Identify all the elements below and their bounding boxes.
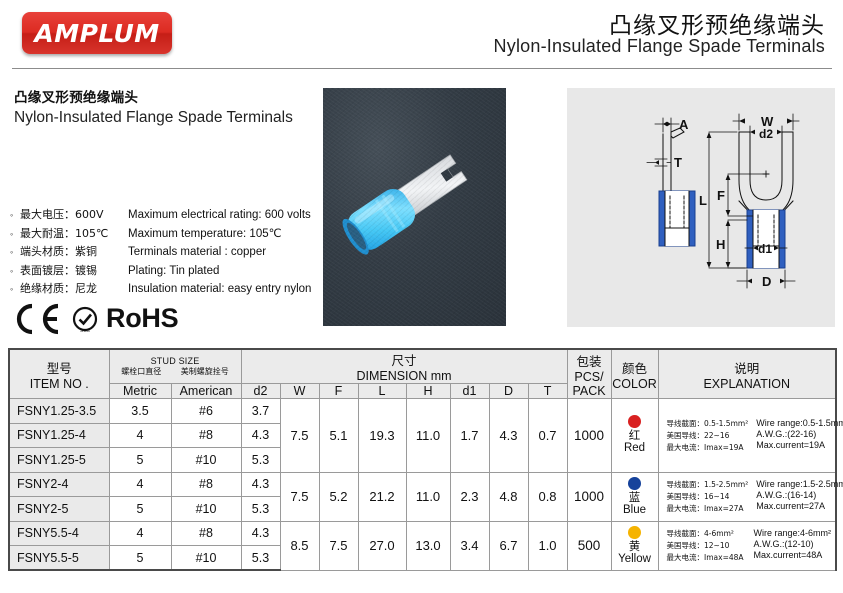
cell-american: #8 — [171, 423, 241, 448]
page-title-cn: 凸缘叉形预绝缘端头 — [609, 6, 825, 40]
cell-f: 7.5 — [319, 521, 358, 570]
sgs-mark-icon: SGS — [70, 305, 100, 335]
spec-item: ◦ 表面镀层：镀锡 Plating: Tin plated — [10, 262, 320, 281]
spec-item-cn: 表面镀层：镀锡 — [20, 262, 128, 278]
table-row[interactable]: FSNY2-4 4 #8 4.3 7.5 5.2 21.2 11.0 2.3 4… — [9, 472, 836, 497]
svg-text:SGS: SGS — [80, 328, 90, 333]
cell-d2: 5.3 — [241, 497, 280, 522]
cell-d2: 5.3 — [241, 448, 280, 473]
cell-explanation: 导线截面：4-6mm² 美国导线：12~10 最大电流：Imax=48A Wir… — [658, 521, 836, 570]
cell-d: 4.3 — [489, 399, 528, 473]
cell-pack: 500 — [567, 521, 611, 570]
cell-f: 5.2 — [319, 472, 358, 521]
cell-w: 8.5 — [280, 521, 319, 570]
spec-item: ◦ 最大电压：600V Maximum electrical rating: 6… — [10, 206, 320, 225]
cell-w: 7.5 — [280, 399, 319, 473]
label-h: H — [716, 237, 725, 252]
page-header: AMPLUM 凸缘叉形预绝缘端头 Nylon-Insulated Flange … — [0, 0, 843, 70]
bullet-icon: ◦ — [10, 262, 20, 280]
cell-metric: 4 — [109, 472, 171, 497]
spec-item-cn: 端头材质：紫铜 — [20, 243, 128, 259]
cell-metric: 4 — [109, 521, 171, 546]
cell-american: #10 — [171, 448, 241, 473]
spec-item-cn: 绝缘材质：尼龙 — [20, 280, 128, 296]
table-row[interactable]: FSNY1.25-3.5 3.5 #6 3.7 7.5 5.1 19.3 11.… — [9, 399, 836, 424]
bullet-icon: ◦ — [10, 206, 20, 224]
cell-explanation: 导线截面：1.5-2.5mm² 美国导线：16~14 最大电流：Imax=27A… — [658, 472, 836, 521]
spec-item: ◦ 最大耐温：105℃ Maximum temperature: 105℃ — [10, 225, 320, 244]
cell-d: 4.8 — [489, 472, 528, 521]
label-f: F — [717, 188, 725, 203]
spec-item: ◦ 绝缘材质：尼龙 Insulation material: easy entr… — [10, 280, 320, 299]
page-title-en: Nylon-Insulated Flange Spade Terminals — [494, 36, 825, 57]
label-t: T — [674, 155, 682, 170]
cell-t: 0.7 — [528, 399, 567, 473]
col-header-pack: 包装 PCS/ PACK — [567, 349, 611, 399]
cell-american: #10 — [171, 497, 241, 522]
bullet-icon: ◦ — [10, 280, 20, 298]
brand-logo: AMPLUM — [22, 12, 172, 54]
spec-list: ◦ 最大电压：600V Maximum electrical rating: 6… — [10, 206, 320, 299]
spec-item-cn: 最大电压：600V — [20, 206, 128, 222]
cell-h: 11.0 — [406, 472, 450, 521]
cell-item-no: FSNY2-4 — [9, 472, 109, 497]
dimension-diagram: A T W d2 L F H d1 D — [567, 88, 835, 327]
cell-l: 21.2 — [358, 472, 406, 521]
col-header-t: T — [528, 384, 567, 399]
cell-h: 13.0 — [406, 521, 450, 570]
label-d1: d1 — [758, 242, 772, 256]
cell-d2: 4.3 — [241, 423, 280, 448]
col-header-color: 颜色 COLOR — [611, 349, 658, 399]
spec-heading-block: 凸缘叉形预绝缘端头 Nylon-Insulated Flange Spade T… — [14, 86, 314, 127]
photo-texture — [323, 88, 506, 326]
cell-metric: 5 — [109, 546, 171, 571]
label-d: D — [762, 274, 771, 289]
cell-metric: 5 — [109, 448, 171, 473]
col-header-stud-size: STUD SIZE 螺栓口直径 美制螺旋拴号 — [109, 349, 241, 384]
cell-color: 红 Red — [611, 399, 658, 473]
cell-d1: 1.7 — [450, 399, 489, 473]
cell-d2: 3.7 — [241, 399, 280, 424]
cell-d2: 4.3 — [241, 472, 280, 497]
product-photo — [323, 88, 506, 326]
brand-logo-text: AMPLUM — [34, 19, 159, 48]
col-header-w: W — [280, 384, 319, 399]
cell-d1: 3.4 — [450, 521, 489, 570]
col-header-l: L — [358, 384, 406, 399]
label-l: L — [699, 193, 707, 208]
spec-item-en: Maximum temperature: 105℃ — [128, 226, 282, 240]
cell-item-no: FSNY2-5 — [9, 497, 109, 522]
col-header-d2: d2 — [241, 384, 280, 399]
bullet-icon: ◦ — [10, 225, 20, 243]
cell-metric: 3.5 — [109, 399, 171, 424]
spec-item-en: Terminals material : copper — [128, 246, 266, 258]
cell-w: 7.5 — [280, 472, 319, 521]
cell-pack: 1000 — [567, 399, 611, 473]
cell-explanation: 导线截面：0.5-1.5mm² 美国导线：22~16 最大电流：Imax=19A… — [658, 399, 836, 473]
header-divider — [12, 68, 832, 69]
cell-pack: 1000 — [567, 472, 611, 521]
col-header-h: H — [406, 384, 450, 399]
spec-item-en: Insulation material: easy entry nylon — [128, 283, 311, 295]
cell-color: 黄 Yellow — [611, 521, 658, 570]
spec-heading-en: Nylon-Insulated Flange Spade Terminals — [14, 108, 314, 127]
technical-drawing: A T W d2 L F H d1 D — [567, 88, 835, 327]
cell-metric: 5 — [109, 497, 171, 522]
cell-american: #6 — [171, 399, 241, 424]
cell-l: 19.3 — [358, 399, 406, 473]
label-d2: d2 — [759, 127, 773, 141]
cell-american: #8 — [171, 472, 241, 497]
color-swatch-red — [628, 415, 641, 428]
rohs-mark-text: RoHS — [106, 303, 178, 334]
color-swatch-blue — [628, 477, 641, 490]
col-header-item-no: 型号 ITEM NO . — [9, 349, 109, 399]
cell-h: 11.0 — [406, 399, 450, 473]
col-header-explanation: 说明 EXPLANATION — [658, 349, 836, 399]
col-header-d1: d1 — [450, 384, 489, 399]
cell-l: 27.0 — [358, 521, 406, 570]
cell-item-no: FSNY1.25-3.5 — [9, 399, 109, 424]
cell-d2: 5.3 — [241, 546, 280, 571]
bullet-icon: ◦ — [10, 243, 20, 261]
spec-item-cn: 最大耐温：105℃ — [20, 225, 128, 241]
cell-item-no: FSNY1.25-5 — [9, 448, 109, 473]
spec-item-en: Maximum electrical rating: 600 volts — [128, 209, 311, 221]
table-row[interactable]: FSNY5.5-4 4 #8 4.3 8.5 7.5 27.0 13.0 3.4… — [9, 521, 836, 546]
cell-t: 0.8 — [528, 472, 567, 521]
spec-item: ◦ 端头材质：紫铜 Terminals material : copper — [10, 243, 320, 262]
cell-american: #10 — [171, 546, 241, 571]
ce-mark-icon — [12, 302, 64, 336]
cell-d2: 4.3 — [241, 521, 280, 546]
cell-color: 蓝 Blue — [611, 472, 658, 521]
col-header-d: D — [489, 384, 528, 399]
col-header-metric: Metric — [109, 384, 171, 399]
cell-d1: 2.3 — [450, 472, 489, 521]
col-header-dimension: 尺寸 DIMENSION mm — [241, 349, 567, 384]
label-a: A — [679, 117, 689, 132]
spec-heading-cn: 凸缘叉形预绝缘端头 — [14, 86, 314, 106]
specification-table: 型号 ITEM NO . STUD SIZE 螺栓口直径 美制螺旋拴号 尺寸 D… — [8, 348, 835, 571]
col-header-f: F — [319, 384, 358, 399]
color-swatch-yellow — [628, 526, 641, 539]
cell-american: #8 — [171, 521, 241, 546]
cell-t: 1.0 — [528, 521, 567, 570]
cell-item-no: FSNY5.5-5 — [9, 546, 109, 571]
cell-d: 6.7 — [489, 521, 528, 570]
spec-item-en: Plating: Tin plated — [128, 265, 219, 277]
certification-marks: SGS RoHS — [8, 300, 208, 342]
cell-f: 5.1 — [319, 399, 358, 473]
col-header-american: American — [171, 384, 241, 399]
cell-metric: 4 — [109, 423, 171, 448]
cell-item-no: FSNY1.25-4 — [9, 423, 109, 448]
cell-item-no: FSNY5.5-4 — [9, 521, 109, 546]
